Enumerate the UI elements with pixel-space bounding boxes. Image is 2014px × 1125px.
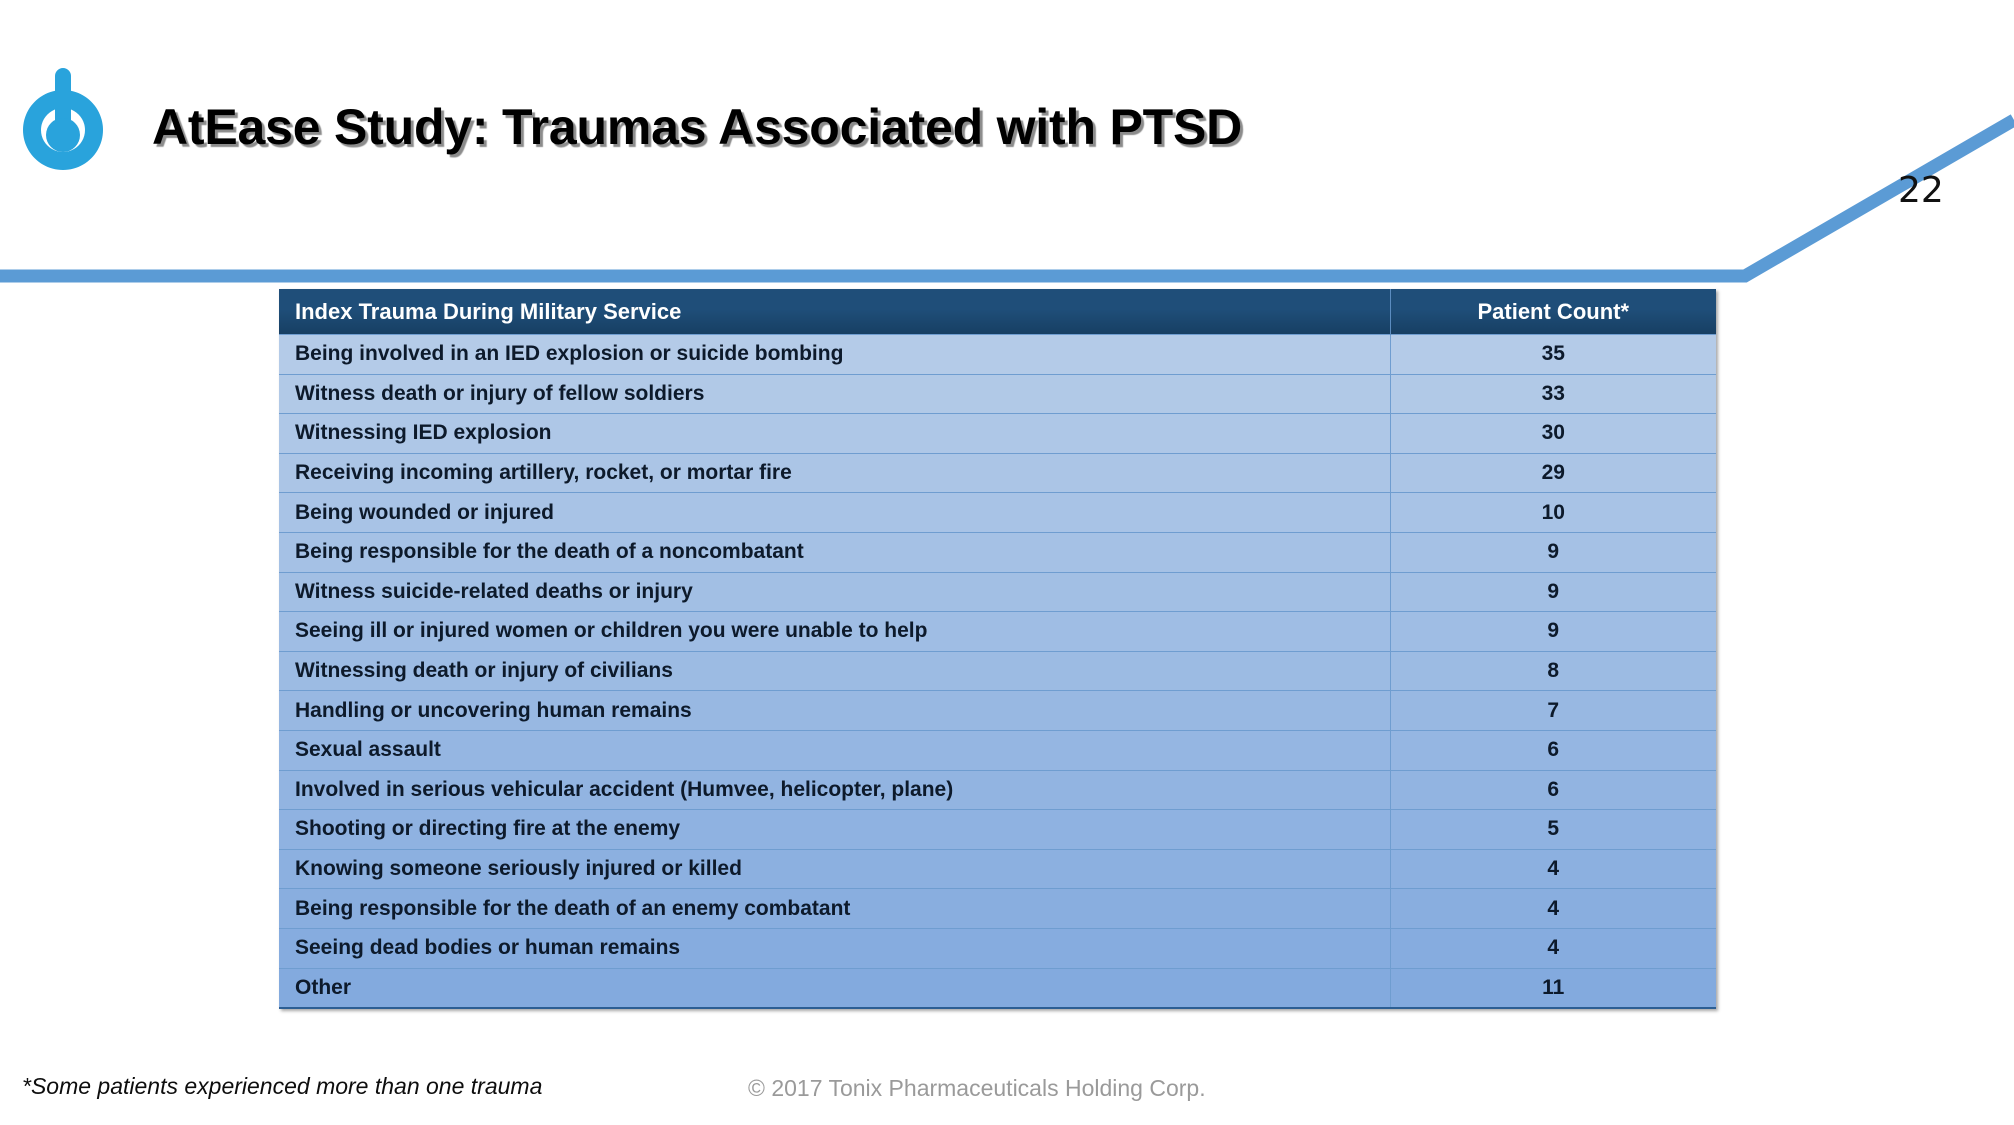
trauma-label-cell: Handling or uncovering human remains <box>279 691 1390 731</box>
table-row: Seeing ill or injured women or children … <box>279 612 1716 652</box>
patient-count-cell: 33 <box>1390 374 1716 414</box>
table-row: Handling or uncovering human remains7 <box>279 691 1716 731</box>
trauma-label-cell: Witness suicide-related deaths or injury <box>279 572 1390 612</box>
slide-page-number: 22 <box>1898 170 1944 211</box>
table-footnote: *Some patients experienced more than one… <box>22 1073 542 1100</box>
index-trauma-table: Index Trauma During Military Service Pat… <box>279 289 1716 1009</box>
patient-count-cell: 9 <box>1390 612 1716 652</box>
patient-count-cell: 9 <box>1390 572 1716 612</box>
patient-count-cell: 6 <box>1390 770 1716 810</box>
trauma-label-cell: Involved in serious vehicular accident (… <box>279 770 1390 810</box>
table-row: Other11 <box>279 968 1716 1008</box>
power-button-logo-icon <box>16 68 110 186</box>
trauma-label-cell: Other <box>279 968 1390 1008</box>
table-row: Being involved in an IED explosion or su… <box>279 335 1716 375</box>
patient-count-cell: 7 <box>1390 691 1716 731</box>
patient-count-cell: 35 <box>1390 335 1716 375</box>
patient-count-cell: 30 <box>1390 414 1716 454</box>
trauma-label-cell: Seeing ill or injured women or children … <box>279 612 1390 652</box>
table-row: Being responsible for the death of an en… <box>279 889 1716 929</box>
trauma-label-cell: Witnessing death or injury of civilians <box>279 651 1390 691</box>
patient-count-cell: 4 <box>1390 928 1716 968</box>
table-row: Knowing someone seriously injured or kil… <box>279 849 1716 889</box>
table-row: Seeing dead bodies or human remains4 <box>279 928 1716 968</box>
trauma-label-cell: Seeing dead bodies or human remains <box>279 928 1390 968</box>
table-row: Sexual assault6 <box>279 730 1716 770</box>
trauma-label-cell: Witness death or injury of fellow soldie… <box>279 374 1390 414</box>
slide-header: AtEase Study: Traumas Associated with PT… <box>0 0 2014 275</box>
patient-count-cell: 4 <box>1390 889 1716 929</box>
table-row: Witnessing IED explosion30 <box>279 414 1716 454</box>
trauma-label-cell: Shooting or directing fire at the enemy <box>279 810 1390 850</box>
copyright-notice: © 2017 Tonix Pharmaceuticals Holding Cor… <box>748 1075 1206 1102</box>
trauma-label-cell: Being wounded or injured <box>279 493 1390 533</box>
patient-count-cell: 9 <box>1390 532 1716 572</box>
trauma-label-cell: Knowing someone seriously injured or kil… <box>279 849 1390 889</box>
trauma-label-cell: Being responsible for the death of an en… <box>279 889 1390 929</box>
column-header-trauma: Index Trauma During Military Service <box>279 289 1390 335</box>
patient-count-cell: 6 <box>1390 730 1716 770</box>
table-header-row: Index Trauma During Military Service Pat… <box>279 289 1716 335</box>
patient-count-cell: 8 <box>1390 651 1716 691</box>
patient-count-cell: 29 <box>1390 453 1716 493</box>
table-row: Witness death or injury of fellow soldie… <box>279 374 1716 414</box>
trauma-label-cell: Being involved in an IED explosion or su… <box>279 335 1390 375</box>
trauma-label-cell: Receiving incoming artillery, rocket, or… <box>279 453 1390 493</box>
patient-count-cell: 4 <box>1390 849 1716 889</box>
page-title: AtEase Study: Traumas Associated with PT… <box>152 98 1242 156</box>
patient-count-cell: 5 <box>1390 810 1716 850</box>
column-header-patient-count: Patient Count* <box>1390 289 1716 335</box>
table-row: Witnessing death or injury of civilians8 <box>279 651 1716 691</box>
table-row: Being wounded or injured10 <box>279 493 1716 533</box>
table-row: Receiving incoming artillery, rocket, or… <box>279 453 1716 493</box>
table-row: Involved in serious vehicular accident (… <box>279 770 1716 810</box>
patient-count-cell: 11 <box>1390 968 1716 1008</box>
table-row: Witness suicide-related deaths or injury… <box>279 572 1716 612</box>
table-row: Being responsible for the death of a non… <box>279 532 1716 572</box>
table-body: Being involved in an IED explosion or su… <box>279 335 1716 1009</box>
trauma-label-cell: Witnessing IED explosion <box>279 414 1390 454</box>
patient-count-cell: 10 <box>1390 493 1716 533</box>
trauma-label-cell: Being responsible for the death of a non… <box>279 532 1390 572</box>
table-row: Shooting or directing fire at the enemy5 <box>279 810 1716 850</box>
trauma-label-cell: Sexual assault <box>279 730 1390 770</box>
